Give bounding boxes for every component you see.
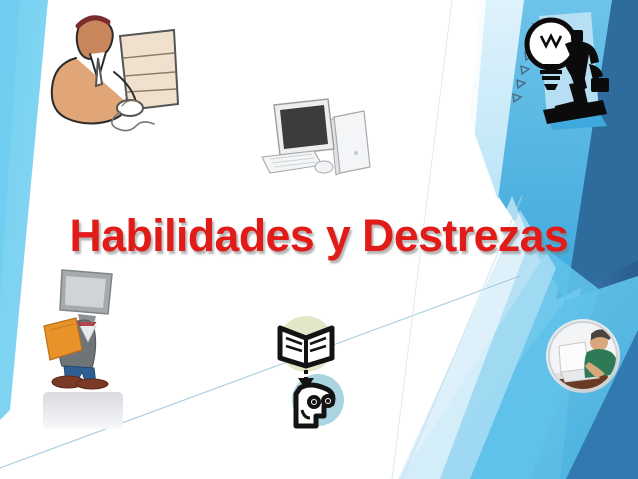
clipart-person-at-computer: [24, 6, 194, 136]
clipart-businessman-with-lightbulb: [503, 2, 611, 132]
slide-title: Habilidades y Destrezas: [70, 210, 569, 262]
clipart-monitor-head-person: [38, 268, 130, 388]
clipart-desktop-computer: [256, 95, 380, 183]
clipart-monitor-person-reflection: [43, 392, 123, 429]
title-placeholder: Habilidades y Destrezas: [0, 205, 638, 267]
clipart-person-with-laptop-photo: [545, 318, 621, 394]
presentation-slide: Habilidades y Destrezas: [0, 0, 638, 479]
clipart-book-to-head-learning: [272, 310, 352, 430]
